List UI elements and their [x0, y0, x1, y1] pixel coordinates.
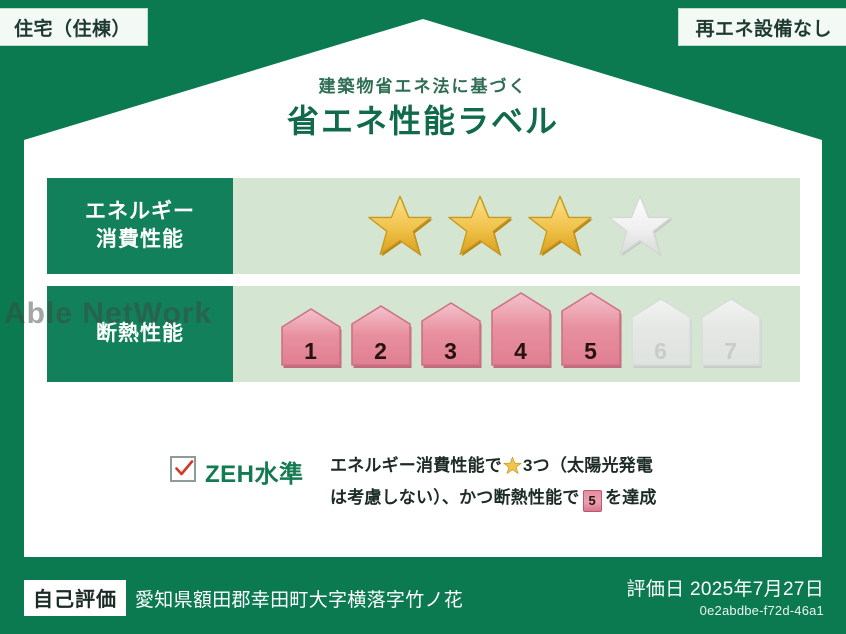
- renewable-energy-tag: 再エネ設備なし: [678, 8, 846, 46]
- zeh-checkbox: [170, 456, 196, 482]
- inline-level-badge: 5: [583, 490, 602, 512]
- star-icon-filled: [527, 193, 593, 259]
- footer-left: 自己評価 愛知県額田郡幸田町大字横落字竹ノ花: [24, 580, 463, 616]
- insulation-level-5: 5: [559, 291, 623, 369]
- star-icon-empty: [607, 193, 673, 259]
- energy-performance-label: 住宅（住棟） 再エネ設備なし 建築物省エネ法に基づく 省エネ性能ラベル エネルギ…: [0, 0, 846, 634]
- insulation-performance-value: 1234567: [233, 286, 800, 382]
- footer-right: 評価日 2025年7月27日 0e2abdbe-f72d-46a1: [627, 574, 824, 618]
- insulation-level-2: 2: [349, 304, 413, 369]
- insulation-level-number: 4: [489, 340, 553, 363]
- insulation-performance-row: 断熱性能 1234567: [47, 286, 800, 382]
- insulation-level-7: 7: [699, 297, 763, 369]
- insulation-level-number: 7: [699, 340, 763, 363]
- insulation-label-full: 断熱性能: [96, 320, 184, 348]
- insulation-level-number: 3: [419, 340, 483, 363]
- star-icon-filled: [447, 193, 513, 259]
- house-rating: 1234567: [279, 299, 763, 369]
- zeh-desc-part1: エネルギー消費性能で: [330, 456, 502, 475]
- evaluation-id: 0e2abdbe-f72d-46a1: [627, 603, 824, 618]
- check-icon: [174, 459, 194, 479]
- star-icon-filled: [367, 193, 433, 259]
- energy-performance-label: エネルギー 消費性能: [47, 178, 233, 274]
- energy-performance-value: [233, 178, 800, 274]
- title-block: 建築物省エネ法に基づく 省エネ性能ラベル: [0, 78, 846, 139]
- title-subtitle: 建築物省エネ法に基づく: [0, 78, 846, 97]
- zeh-standard-block: ZEH水準: [170, 452, 304, 489]
- inline-star-icon: [503, 456, 522, 484]
- insulation-level-number: 6: [629, 340, 693, 363]
- insulation-level-number: 5: [559, 340, 623, 363]
- insulation-level-4: 4: [489, 291, 553, 369]
- star-rating: [367, 193, 673, 259]
- building-type-tag: 住宅（住棟）: [0, 8, 148, 46]
- evaluation-date: 評価日 2025年7月27日: [627, 574, 824, 601]
- insulation-performance-label: 断熱性能: [47, 286, 233, 382]
- performance-panel: エネルギー 消費性能 断熱性能 1234567: [47, 178, 800, 382]
- page-title: 省エネ性能ラベル: [0, 104, 846, 139]
- insulation-level-number: 2: [349, 340, 413, 363]
- zeh-description: エネルギー消費性能で 3つ（太陽光発電 は考慮しない）、かつ断熱性能で5を達成: [330, 452, 690, 512]
- energy-performance-row: エネルギー 消費性能: [47, 178, 800, 274]
- energy-label-line2: 消費性能: [96, 226, 184, 254]
- zeh-desc-part3: を達成: [605, 488, 657, 507]
- property-address: 愛知県額田郡幸田町大字横落字竹ノ花: [135, 585, 463, 612]
- zeh-standard-name: ZEH水準: [205, 454, 304, 489]
- insulation-level-number: 1: [279, 340, 343, 363]
- zeh-desc-stars: 3つ（太陽光発電: [523, 456, 653, 475]
- self-evaluation-badge: 自己評価: [24, 580, 126, 616]
- insulation-level-3: 3: [419, 301, 483, 369]
- zeh-desc-part2: は考慮しない）、かつ断熱性能で: [330, 488, 580, 507]
- insulation-level-1: 1: [279, 307, 343, 369]
- energy-label-line1: エネルギー: [85, 198, 195, 226]
- renewable-energy-label: 再エネ設備なし: [695, 14, 832, 41]
- building-type-label: 住宅（住棟）: [14, 14, 131, 41]
- insulation-level-6: 6: [629, 297, 693, 369]
